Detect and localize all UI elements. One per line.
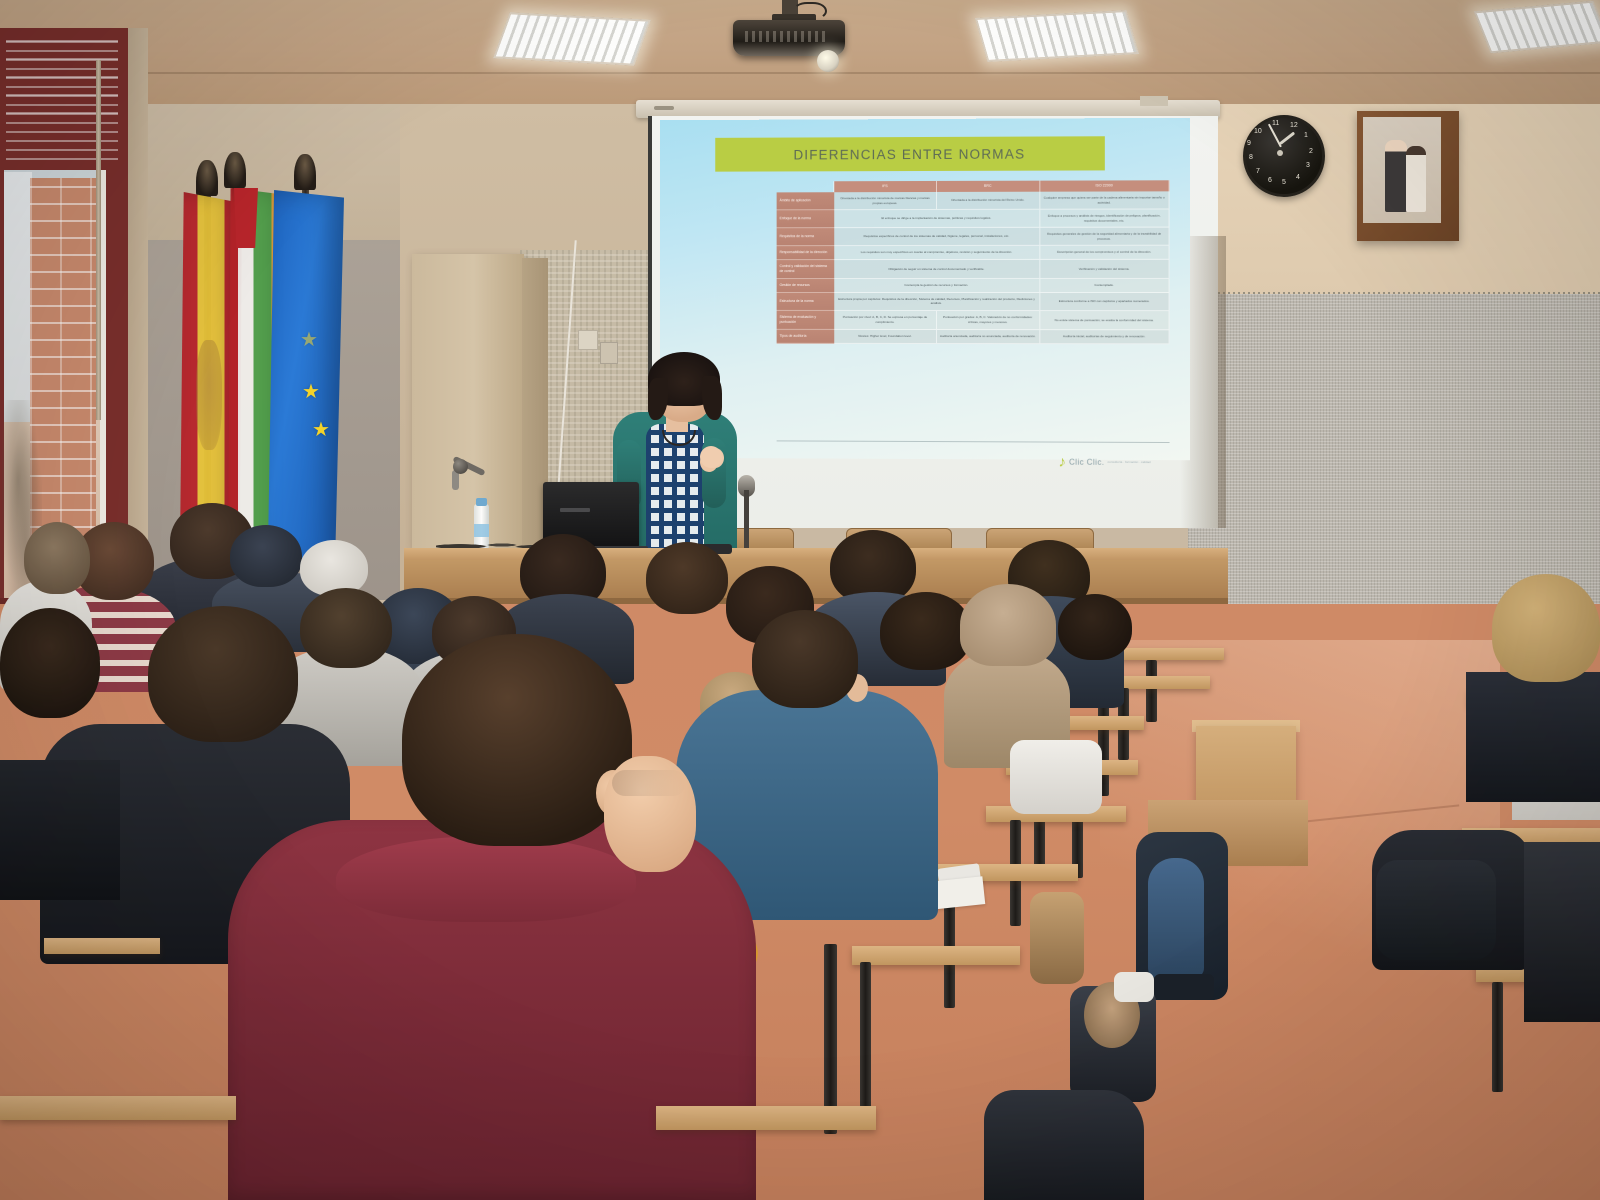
table-cell: Verificación y validación del sistema.: [1040, 260, 1170, 279]
eu-star-icon: ★: [300, 330, 318, 350]
table-cell: Niveles: Higher level, Foundation level.: [834, 330, 937, 344]
student-fingers: [612, 770, 686, 796]
flag-european-union: [268, 190, 344, 570]
projected-slide: DIFERENCIAS ENTRE NORMAS IFS BRC ISO 220…: [660, 118, 1190, 460]
presenter-hand-right: [700, 446, 722, 468]
table-cell: El enfoque se dirige a la implantación d…: [834, 210, 1040, 228]
table-row-label: Tipos de auditoría: [777, 330, 835, 344]
student-head: [646, 542, 728, 614]
flagpole-finial: [294, 154, 316, 190]
student-head: [880, 592, 972, 670]
table-cell: Cualquier empresa que quiera ser parte d…: [1040, 192, 1170, 210]
table-header-cell: ISO 22000: [1040, 180, 1170, 192]
table-cell: Puntuación por grados: A, B, C. Valoraci…: [937, 311, 1040, 330]
laptop-badge: [560, 508, 590, 512]
table-cell: Estructura propia por capítulos: Requisi…: [834, 293, 1040, 311]
clock-numeral: 2: [1309, 148, 1313, 155]
eu-star-icon: ★: [302, 382, 320, 402]
table-row-label: Sistema de evaluación y puntuación: [777, 311, 835, 330]
slide-title-text: DIFERENCIAS ENTRE NORMAS: [793, 146, 1025, 162]
logo-text: Clic Clic.: [1069, 457, 1104, 466]
clock-numeral: 12: [1290, 122, 1298, 129]
table-cell: No existe sistema de puntuación; se eval…: [1040, 311, 1170, 330]
backpack-buckle: [1154, 974, 1214, 1000]
desk-leg: [860, 962, 871, 1122]
student-head: [1058, 594, 1132, 660]
table-cell: Auditoría anunciada, auditoría no anunci…: [937, 330, 1040, 344]
screen-roller-knob[interactable]: [654, 106, 674, 110]
table-cell: Descripción general de los compromisos y…: [1040, 246, 1170, 260]
microphone-stand: [744, 490, 749, 548]
backpack-strap: [1148, 858, 1204, 978]
clock-numeral: 7: [1256, 168, 1260, 175]
student-desk-row-foreground[interactable]: [656, 1106, 876, 1130]
table-row-label: Estructura de la norma: [777, 293, 835, 311]
student-head: [752, 610, 858, 708]
wall-cabinet[interactable]: [412, 254, 524, 548]
table-header-cell: IFS: [834, 181, 937, 192]
student-head: [24, 522, 90, 594]
student-head: [148, 606, 298, 742]
table-cell: Contempla la gestión de recursos y forma…: [834, 279, 1040, 293]
table-row-label: Gestión de recursos: [777, 279, 835, 293]
student-head: [300, 588, 392, 668]
table-cell: Auditoría inicial, auditorías de seguimi…: [1040, 330, 1170, 344]
student-head-hijab: [960, 584, 1056, 666]
student-head-foreground: [402, 634, 632, 846]
folded-garment: [1010, 740, 1102, 814]
logo-mark-icon: ♪: [1058, 454, 1066, 469]
screen-roller-bracket: [1140, 96, 1168, 106]
table-row-label: Responsabilidad de la dirección: [777, 246, 835, 260]
table-cell: Contemplado.: [1040, 279, 1170, 293]
student-desk-row[interactable]: [852, 946, 1020, 965]
slide-title-banner: DIFERENCIAS ENTRE NORMAS: [715, 136, 1105, 171]
desk-leg: [1146, 660, 1157, 722]
eu-star-icon: ★: [312, 420, 330, 440]
window-jamb: [126, 28, 148, 608]
clock-numeral: 4: [1296, 174, 1300, 181]
portrait-figure-right: [1406, 146, 1426, 212]
bag[interactable]: [1030, 892, 1084, 984]
microphone-head: [453, 459, 468, 474]
table-cell: Los requisitos son muy específicos en cu…: [834, 246, 1040, 260]
table-cell: Requisitos generales de gestión de la se…: [1040, 228, 1170, 246]
student-torso: [1524, 842, 1600, 1022]
table-row-label: Control y validación del sistema de cont…: [777, 260, 835, 279]
water-bottle-cap[interactable]: [476, 498, 487, 506]
slide-divider: [777, 440, 1170, 443]
table-cell: Estructura conforme a ISO con capítulos …: [1040, 293, 1170, 311]
clock-numeral: 10: [1254, 128, 1262, 135]
window-blind-perforations: [6, 40, 118, 130]
student-desk-row-left[interactable]: [44, 938, 160, 954]
table-row-label: Requisitos de la norma: [777, 228, 835, 246]
desk-leg: [1492, 982, 1503, 1092]
clock-numeral: 1: [1304, 132, 1308, 139]
wall-pipe: [96, 60, 101, 420]
lecture-hall-photo: ★ ★ ★ 12 1 2 3 4 5 6 7 8 9 10 11 DIFEREN…: [0, 0, 1600, 1200]
table-cell: Puntuación por nivel: A, B, C, D. Se exp…: [834, 311, 937, 330]
student-head-blonde: [1492, 574, 1600, 682]
student-torso: [1466, 672, 1600, 802]
clock-numeral: 11: [1272, 120, 1279, 127]
wall-clock: 12 1 2 3 4 5 6 7 8 9 10 11: [1243, 115, 1325, 197]
student-desk-row[interactable]: [1116, 648, 1224, 660]
flag-la-rioja-ribbon: [234, 188, 258, 248]
window-view-sky: [4, 172, 32, 422]
slide-comparison-table: IFS BRC ISO 22000 Ámbito de aplicación O…: [777, 180, 1170, 434]
logo-subtext: consultoría · formación · calidad: [1107, 460, 1150, 464]
clock-numeral: 3: [1306, 162, 1310, 169]
clock-numeral: 9: [1247, 140, 1251, 147]
clock-center-pin: [1277, 150, 1283, 156]
wall-socket[interactable]: [600, 342, 618, 364]
ceiling-light-panel: [493, 12, 651, 66]
wall-socket[interactable]: [578, 330, 598, 350]
table-cell: Orientada a la distribución minorista de…: [834, 192, 937, 210]
backpack[interactable]: [1376, 860, 1496, 960]
table-row-label: Ámbito de aplicación: [777, 192, 835, 210]
student-head: [230, 525, 302, 587]
table-row-label: Enfoque de la norma: [777, 210, 835, 228]
table-header-cell: BRC: [937, 181, 1040, 193]
clock-numeral: 6: [1268, 177, 1272, 184]
hoodie-hood: [336, 836, 636, 922]
flagpole-finial: [196, 160, 218, 196]
ceiling-light-panel: [975, 10, 1139, 62]
slide-logo: ♪ Clic Clic. consultoría · formación · c…: [1058, 450, 1169, 475]
student-head: [0, 608, 100, 718]
flag-spain-coat-of-arms: [196, 340, 222, 450]
table-cell: Obligación de seguir un sistema de contr…: [834, 260, 1040, 279]
flagpole-finial: [224, 152, 246, 188]
table-cell: Requisitos específicos de control de los…: [834, 228, 1040, 246]
projector-lens: [817, 50, 839, 72]
clock-numeral: 8: [1249, 154, 1253, 161]
projector-vents: [745, 31, 825, 42]
student-head: [300, 540, 368, 596]
water-bottle-label: [474, 524, 489, 537]
student-torso: [0, 760, 120, 900]
table-cell: Orientada a la distribución minorista de…: [937, 192, 1040, 210]
shoe: [1114, 972, 1154, 1002]
coat-on-floor: [984, 1090, 1144, 1200]
clock-numeral: 5: [1282, 179, 1286, 186]
student-desk-row-foreground-left[interactable]: [0, 1096, 236, 1120]
table-header-corner: [777, 181, 835, 192]
table-cell: Enfoque a procesos y análisis de riesgos…: [1040, 210, 1170, 228]
projector-cable: [793, 2, 827, 20]
ceiling-seam: [0, 72, 1600, 74]
portrait-figure-left: [1385, 140, 1407, 212]
